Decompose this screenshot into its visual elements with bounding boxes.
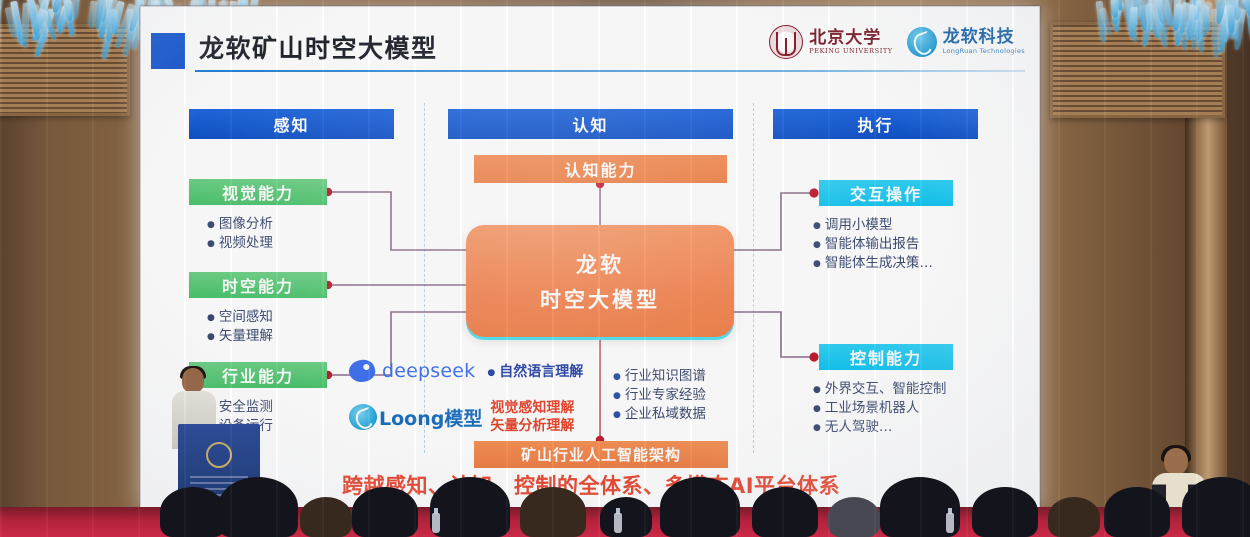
ceiling-vent-left <box>0 24 130 116</box>
deepseek-tag: 自然语言理解 <box>487 361 583 381</box>
chandelier-crystal <box>1233 9 1246 51</box>
projection-screen: 龙软矿山时空大模型 北京大学 PEKING UNIVERSITY 龙软科技 Lo… <box>140 6 1040 511</box>
chandelier-crystal <box>71 0 81 21</box>
chandelier-crystal <box>0 0 2 14</box>
audience-head <box>600 497 652 537</box>
chandelier-crystal <box>1241 0 1250 17</box>
capability-spatiotemporal: 时空能力 <box>189 272 327 298</box>
chandelier-crystal <box>1244 0 1250 41</box>
water-bottle <box>946 513 954 533</box>
chandelier-crystal <box>1233 0 1244 20</box>
audience-head <box>752 487 818 537</box>
chandelier-crystal <box>1227 0 1238 36</box>
capability-visual: 视觉能力 <box>189 179 327 205</box>
chandelier-crystal <box>1110 0 1119 19</box>
presenter-head <box>182 368 204 393</box>
bullet-item: 图像分析 <box>207 215 273 234</box>
audience-head <box>828 497 880 537</box>
audience-head <box>160 487 226 537</box>
audience-head <box>1104 487 1170 537</box>
bullet-item: 安全监测 <box>207 398 273 417</box>
ceiling-vent-right <box>1050 22 1225 118</box>
bullet-item: 企业私域数据 <box>613 405 706 424</box>
chandelier-crystal <box>1228 0 1239 34</box>
core-model-line1: 龙软 <box>576 249 624 279</box>
loong-tag: 视觉感知理解 <box>490 399 574 417</box>
bullets-spatiotemporal: 空间感知 矢量理解 <box>207 308 273 346</box>
chandelier-crystal <box>1238 0 1249 23</box>
audience-head <box>1048 497 1100 537</box>
core-model-box: 龙软 时空大模型 <box>466 225 734 337</box>
conference-room-photo: 龙软矿山时空大模型 北京大学 PEKING UNIVERSITY 龙软科技 Lo… <box>0 0 1250 537</box>
audience-head <box>218 477 298 537</box>
audience-head <box>972 487 1038 537</box>
chandelier-crystal <box>63 0 73 21</box>
bullets-interaction: 调用小模型 智能体输出报告 智能体生成决策… <box>813 216 933 273</box>
cognition-capability-header: 认知能力 <box>474 155 727 183</box>
deepseek-whale-icon <box>349 359 379 383</box>
bullet-item: 工业场景机器人 <box>813 399 946 418</box>
loong-tag: 矢量分析理解 <box>490 417 574 435</box>
audience-head <box>660 477 740 537</box>
architecture-box: 矿山行业人工智能架构 <box>474 441 728 468</box>
audience-head <box>300 497 352 537</box>
audience-head <box>352 487 418 537</box>
core-model-line2: 时空大模型 <box>540 284 660 314</box>
bullets-knowledge: 行业知识图谱 行业专家经验 企业私域数据 <box>613 367 706 424</box>
audience-head <box>1182 477 1250 537</box>
bullet-item: 智能体输出报告 <box>813 235 933 254</box>
capability-control: 控制能力 <box>819 344 953 370</box>
bullet-item: 外界交互、智能控制 <box>813 380 946 399</box>
bullet-item: 行业知识图谱 <box>613 367 706 386</box>
bullets-visual: 图像分析 视频处理 <box>207 215 273 253</box>
loong-dragon-icon <box>349 404 377 430</box>
bullet-item: 智能体生成决策… <box>813 254 933 273</box>
chandelier-crystal <box>1229 6 1244 39</box>
audience-head <box>520 487 586 537</box>
bullet-item: 调用小模型 <box>813 216 933 235</box>
deepseek-wordmark: deepseek <box>382 360 475 382</box>
loong-row: Loong模型 视觉感知理解 矢量分析理解 <box>349 399 574 435</box>
chandelier-crystal <box>1122 0 1133 22</box>
chandelier-crystal <box>51 0 66 13</box>
bullet-item: 无人驾驶… <box>813 418 946 437</box>
chandelier-crystal <box>1111 0 1124 11</box>
chandelier-crystal <box>54 0 62 13</box>
staff-head <box>1164 448 1188 475</box>
chandelier-crystal <box>99 0 107 22</box>
audience-head <box>430 477 510 537</box>
deepseek-row: deepseek 自然语言理解 <box>349 359 583 383</box>
chandelier-crystal <box>1228 0 1239 21</box>
bullet-item: 行业专家经验 <box>613 386 706 405</box>
bullet-item: 空间感知 <box>207 308 273 327</box>
water-bottle <box>614 513 622 533</box>
water-bottle <box>432 513 440 533</box>
chandelier-crystal <box>1226 1 1239 28</box>
loong-wordmark: Loong模型 <box>379 404 482 431</box>
bullet-item: 视频处理 <box>207 234 273 253</box>
bullet-item: 矢量理解 <box>207 327 273 346</box>
podium-emblem <box>206 442 232 468</box>
capability-interaction: 交互操作 <box>819 180 953 206</box>
bullets-control: 外界交互、智能控制 工业场景机器人 无人驾驶… <box>813 380 946 437</box>
